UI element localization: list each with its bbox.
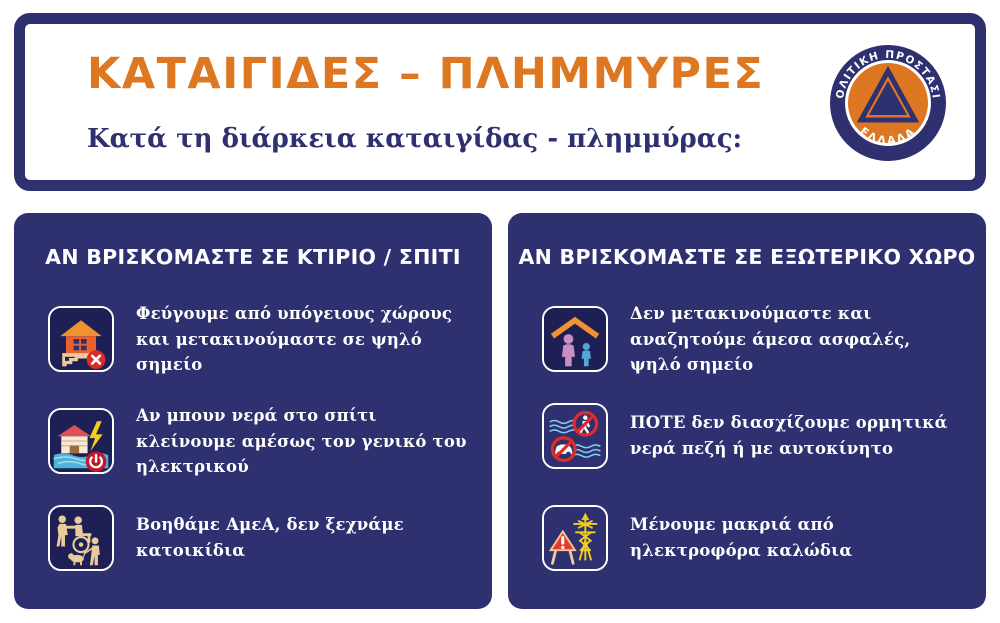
list-item-text: Βοηθάμε ΑμεΑ, δεν ξεχνάμε κατοικίδια — [136, 512, 468, 563]
no-crossing-water-icon — [542, 403, 608, 469]
list-item-text: Μένουμε μακριά από ηλεκτροφόρα καλώδια — [630, 512, 962, 563]
list-item: ΠΟΤΕ δεν διασχίζουμε ορμητικά νερά πεζή … — [542, 403, 962, 469]
house-basement-flood-prohibited-icon — [48, 306, 114, 372]
panel-indoors-heading: ΑΝ ΒΡΙΣΚΟΜΑΣΤΕ ΣΕ ΚΤΙΡΙΟ / ΣΠΙΤΙ — [14, 245, 492, 269]
list-item-text: Αν μπουν νερά στο σπίτι κλείνουμε αμέσως… — [136, 403, 468, 480]
list-item-text: Φεύγουμε από υπόγειους χώρους και μετακι… — [136, 301, 468, 378]
help-disabled-and-pets-icon — [48, 505, 114, 571]
list-item: Αν μπουν νερά στο σπίτι κλείνουμε αμέσως… — [48, 403, 468, 480]
list-item-text: Δεν μετακινούμαστε και αναζητούμε άμεσα … — [630, 301, 962, 378]
list-item-text: ΠΟΤΕ δεν διασχίζουμε ορμητικά νερά πεζή … — [630, 410, 962, 461]
page-title: ΚΑΤΑΙΓΙΔΕΣ – ΠΛΗΜΜΥΡΕΣ — [87, 49, 764, 99]
panel-outdoors-heading: ΑΝ ΒΡΙΣΚΟΜΑΣΤΕ ΣΕ ΕΞΩΤΕΡΙΚΟ ΧΩΡΟ — [508, 245, 986, 269]
list-item: Βοηθάμε ΑμεΑ, δεν ξεχνάμε κατοικίδια — [48, 505, 468, 571]
page-subtitle: Κατά τη διάρκεια καταιγίδας - πλημμύρας: — [87, 124, 742, 154]
list-item: Δεν μετακινούμαστε και αναζητούμε άμεσα … — [542, 301, 962, 378]
power-lines-warning-icon — [542, 505, 608, 571]
panel-indoors: ΑΝ ΒΡΙΣΚΟΜΑΣΤΕ ΣΕ ΚΤΙΡΙΟ / ΣΠΙΤΙ Φεύγουμ… — [14, 213, 492, 609]
header-banner: ΚΑΤΑΙΓΙΔΕΣ – ΠΛΗΜΜΥΡΕΣ Κατά τη διάρκεια … — [14, 13, 986, 191]
shelter-family-icon — [542, 306, 608, 372]
panel-outdoors: ΑΝ ΒΡΙΣΚΟΜΑΣΤΕ ΣΕ ΕΞΩΤΕΡΙΚΟ ΧΩΡΟ Δεν μετ… — [508, 213, 986, 609]
flooded-house-power-off-icon — [48, 408, 114, 474]
civil-protection-logo: ΠΟΛΙΤΙΚΗ ΠΡΟΣΤΑΣΙΑ ΕΛΛΑΔΑ — [827, 42, 949, 164]
list-item: Μένουμε μακριά από ηλεκτροφόρα καλώδια — [542, 505, 962, 571]
list-item: Φεύγουμε από υπόγειους χώρους και μετακι… — [48, 301, 468, 378]
